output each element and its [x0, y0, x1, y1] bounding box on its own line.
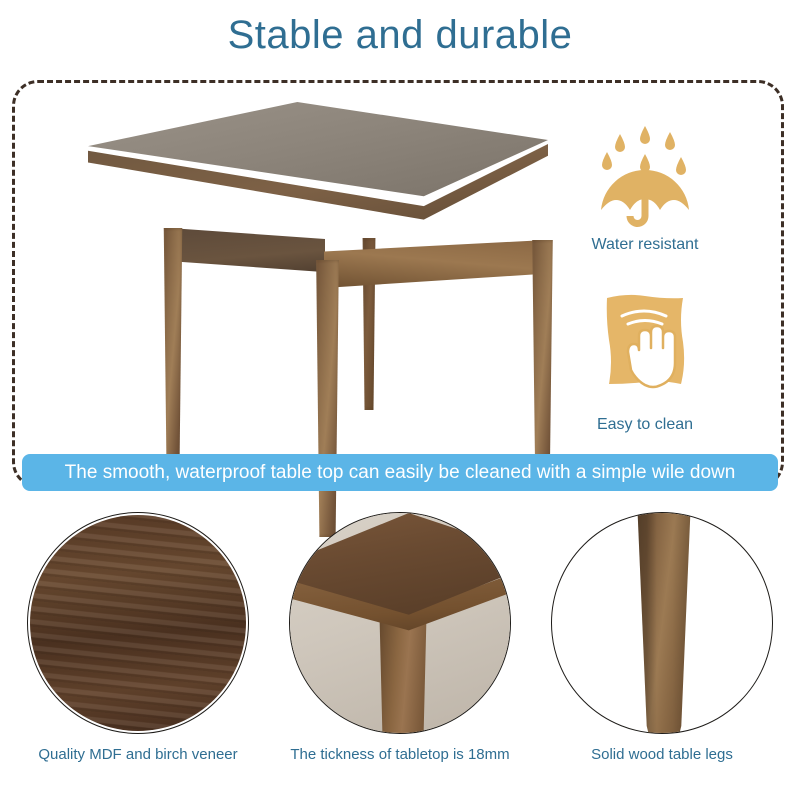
detail-circle-corner — [289, 512, 511, 734]
detail-circle-leg — [551, 512, 773, 734]
table-leg-back-left — [162, 228, 184, 460]
table-apron-right — [324, 240, 546, 288]
benefit-easy-to-clean: Easy to clean — [550, 292, 740, 434]
benefit-label-easy-to-clean: Easy to clean — [550, 416, 740, 434]
detail-item-tabletop-thickness: The tickness of tabletop is 18mm — [284, 512, 516, 763]
table-top-surface — [88, 102, 548, 254]
wood-grain-texture — [30, 515, 246, 731]
callout-banner: The smooth, waterproof table top can eas… — [22, 454, 778, 491]
detail-caption-1: Quality MDF and birch veneer — [22, 746, 254, 763]
benefit-label-water-resistant: Water resistant — [550, 236, 740, 254]
detail-caption-2: The tickness of tabletop is 18mm — [284, 746, 516, 763]
table-apron-left — [170, 228, 325, 274]
product-table-image — [60, 88, 540, 458]
solid-wood-leg-shading — [628, 512, 700, 734]
page-title: Stable and durable — [0, 10, 800, 60]
table-leg-front-center — [314, 260, 341, 537]
detail-caption-3: Solid wood table legs — [546, 746, 778, 763]
detail-item-solid-legs: Solid wood table legs — [546, 512, 778, 763]
umbrella-rain-icon — [550, 112, 740, 230]
detail-circle-wood-grain — [27, 512, 249, 734]
benefit-water-resistant: Water resistant — [550, 112, 740, 254]
detail-item-wood-veneer: Quality MDF and birch veneer — [22, 512, 254, 763]
hand-wiping-cloth-icon — [550, 292, 740, 410]
